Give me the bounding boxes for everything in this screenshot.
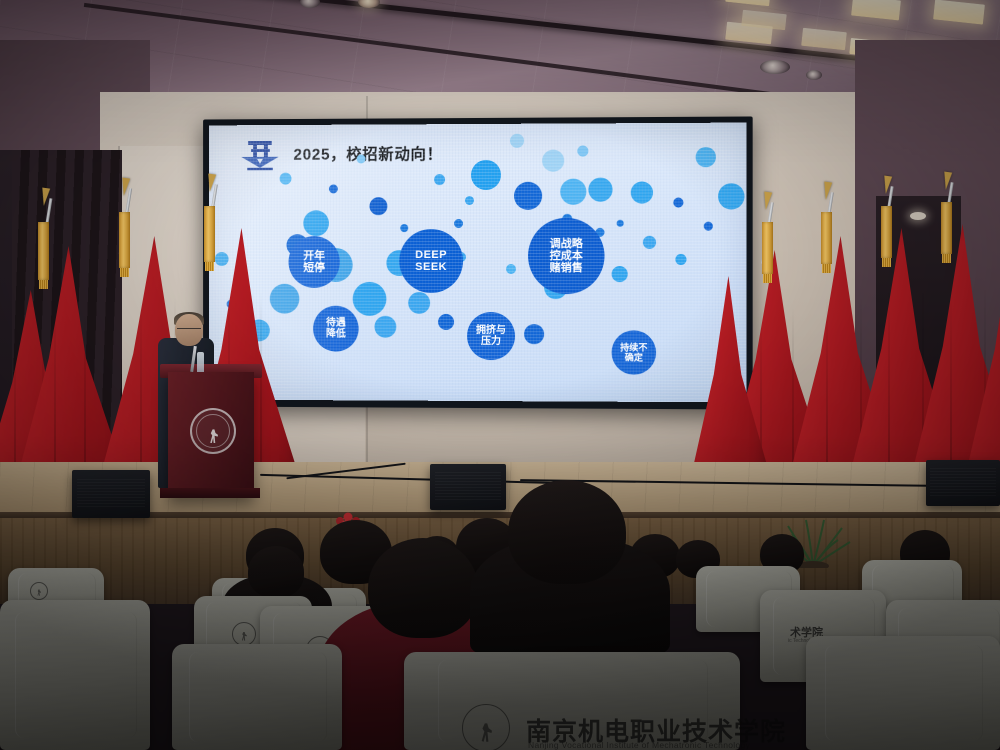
decorative-bubble [612, 266, 628, 282]
bubble-text-line: 短停 [303, 262, 325, 274]
chair-seam [189, 652, 327, 741]
bubble-text-line: 控成本 [550, 250, 583, 262]
auditorium-photo: 2025，校招新动向！ [0, 0, 1000, 750]
flag-tassel [881, 206, 892, 258]
podium-base [160, 488, 260, 498]
bubble-label-deepseek: DEEP SEEK [399, 229, 463, 293]
audience-head [248, 546, 304, 598]
decorative-bubble [631, 181, 653, 203]
decorative-bubble [524, 324, 544, 344]
bubble-text-line: 确定 [625, 353, 643, 363]
chair-emblem [232, 622, 256, 646]
decorative-bubble [542, 150, 564, 172]
bubble-text-line: DEEP [415, 249, 447, 261]
decorative-bubble [370, 197, 388, 215]
ceremonial-flag-right-5 [962, 228, 1000, 490]
audience-chair-front-right [806, 636, 1000, 750]
chair-emblem [462, 704, 510, 750]
audience-head-front [508, 480, 626, 584]
decorative-bubble [577, 145, 588, 156]
decorative-bubble [506, 264, 516, 274]
bubble-label-uncertainty: 持续不 确定 [612, 330, 656, 374]
bubble-text-line: 拥挤与 [476, 325, 506, 336]
ceiling-downlight [760, 60, 790, 74]
decorative-bubble [303, 210, 329, 236]
decorative-bubble [280, 173, 292, 185]
decorative-bubble [357, 154, 366, 163]
chair-seam [825, 645, 982, 741]
decorative-bubble [438, 314, 454, 330]
presenter-glasses [177, 328, 201, 334]
bubble-label-strategy: 调战略 控成本 赌销售 [528, 218, 604, 294]
decorative-bubble [408, 292, 430, 314]
decorative-bubble [374, 316, 396, 338]
decorative-bubble [588, 178, 612, 202]
flag-tassel [821, 212, 832, 264]
bubble-text-line: 开年 [303, 250, 325, 262]
ceiling-downlight [806, 70, 822, 80]
audience-chair-front-left [172, 644, 342, 750]
stage-monitor-speaker-center [430, 464, 506, 510]
bubble-text-line: 赌销售 [550, 262, 583, 274]
flag-tassel [941, 202, 952, 254]
decorative-bubble [471, 160, 501, 190]
bubble-text-line: 压力 [481, 336, 501, 347]
bubble-text-line: 持续不 [620, 342, 647, 352]
audience-chair-front-center: 南京机电职业技术学院 Nanjing Vocational Institute … [404, 652, 740, 750]
decorative-bubble [454, 219, 463, 228]
audience-head-front [368, 538, 478, 638]
flag-tassel [38, 222, 49, 280]
decorative-bubble [696, 147, 716, 167]
decorative-bubble [675, 254, 686, 265]
stage-monitor-speaker-right [926, 460, 1000, 506]
decorative-bubble [704, 222, 713, 231]
audience-chair-front-far-left [0, 600, 150, 750]
decorative-bubble [560, 179, 586, 205]
decorative-bubble [643, 236, 656, 249]
decorative-bubble [673, 197, 683, 207]
decorative-bubble [353, 282, 387, 316]
ceremonial-flag-right-overlap-screen [688, 276, 774, 490]
slide-title: 2025，校招新动向！ [293, 142, 442, 165]
bubble-label-pressure: 拥挤与 压力 [467, 312, 515, 360]
decorative-bubble [465, 196, 474, 205]
chair-seam [15, 612, 137, 738]
podium-university-emblem [190, 408, 236, 454]
flag-tassel [204, 206, 215, 262]
decorative-bubble [514, 182, 542, 210]
bubble-text-line: 待遇 [326, 317, 346, 328]
bubble-label-daiyu: 待遇 降低 [313, 306, 358, 352]
university-blue-logo-icon [238, 137, 281, 173]
chair-emblem [30, 582, 48, 600]
bubble-text-line: 调战略 [550, 237, 583, 249]
bubble-text-line: SEEK [415, 261, 447, 273]
flag-tassel [762, 222, 773, 274]
stage-monitor-speaker-left [72, 470, 150, 518]
flag-tassel [119, 212, 130, 268]
chair-institution-text-en: Nanjing Vocational Institute of Mechatro… [528, 740, 750, 750]
decorative-bubble [400, 224, 408, 232]
decorative-bubble [434, 174, 445, 185]
decorative-bubble [510, 134, 524, 148]
water-bottle [197, 352, 204, 374]
decorative-bubble [617, 220, 624, 227]
bubble-text-line: 降低 [326, 329, 346, 340]
doorway-lamp [910, 212, 926, 220]
decorative-bubble [329, 184, 338, 193]
decorative-bubble [718, 183, 744, 209]
